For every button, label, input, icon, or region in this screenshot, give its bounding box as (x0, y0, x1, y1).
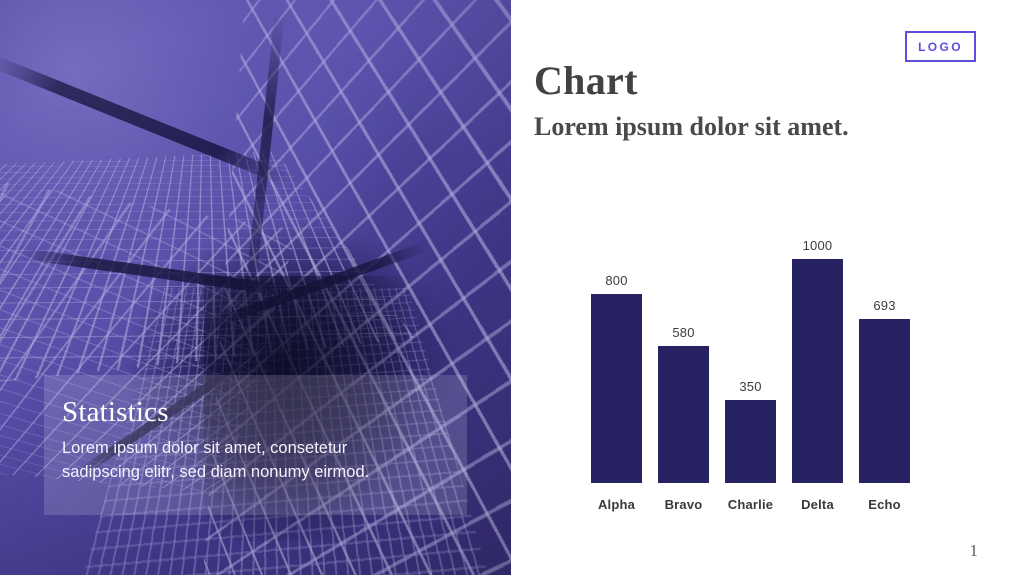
bar-column[interactable]: 580 Bravo (658, 238, 709, 483)
bar-column[interactable]: 1000 Delta (792, 238, 843, 483)
bar-column[interactable]: 800 Alpha (591, 238, 642, 483)
bar-column[interactable]: 350 Charlie (725, 238, 776, 483)
bar-category-label: Delta (801, 497, 834, 512)
bar-rect[interactable] (591, 294, 642, 483)
bar-category-label: Bravo (665, 497, 703, 512)
bar-chart-bars: 800 Alpha 580 Bravo 350 Charlie 1000 (591, 238, 931, 483)
slide-chart: Statistics Lorem ipsum dolor sit amet, c… (0, 0, 1022, 575)
caption-overlay-box: Statistics Lorem ipsum dolor sit amet, c… (44, 375, 467, 515)
bar-value-label: 580 (672, 325, 694, 340)
photo-panel: Statistics Lorem ipsum dolor sit amet, c… (0, 0, 511, 575)
bar-category-label: Charlie (728, 497, 773, 512)
bar-value-label: 800 (605, 273, 627, 288)
caption-body: Lorem ipsum dolor sit amet, consetetur s… (62, 437, 407, 484)
bar-chart: 800 Alpha 580 Bravo 350 Charlie 1000 (571, 205, 991, 525)
bar-column[interactable]: 693 Echo (859, 238, 910, 483)
bar-category-label: Echo (868, 497, 901, 512)
logo-text: LOGO (918, 40, 963, 54)
bar-value-label: 1000 (803, 238, 833, 253)
bar-rect[interactable] (658, 346, 709, 483)
logo-badge[interactable]: LOGO (905, 31, 976, 62)
bar-category-label: Alpha (598, 497, 635, 512)
bar-value-label: 693 (873, 298, 895, 313)
page-number: 1 (970, 541, 979, 561)
caption-title: Statistics (62, 397, 447, 427)
page-subtitle: Lorem ipsum dolor sit amet. (534, 113, 849, 142)
content-panel: LOGO Chart Lorem ipsum dolor sit amet. 8… (511, 0, 1022, 575)
bar-rect[interactable] (859, 319, 910, 483)
bar-rect[interactable] (792, 259, 843, 483)
page-title: Chart (534, 61, 638, 101)
bar-rect[interactable] (725, 400, 776, 483)
bar-value-label: 350 (739, 379, 761, 394)
